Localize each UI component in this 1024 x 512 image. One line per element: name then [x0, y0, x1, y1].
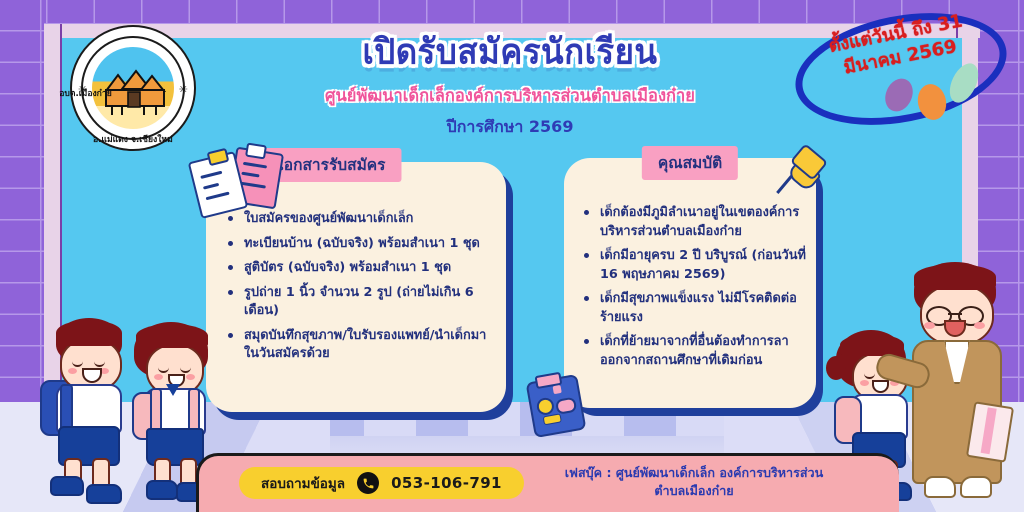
list-item: เด็กต้องมีภูมิลำเนาอยู่ในเขตองค์การบริหา… — [584, 204, 806, 241]
list-item: เด็กมีสุขภาพแข็งแรง ไม่มีโรคติดต่อร้ายแร… — [584, 290, 806, 327]
phone-number: 053-106-791 — [391, 474, 502, 492]
seal-star-left-icon: ✳ — [78, 83, 87, 96]
municipality-seal: อบต.เมืองก๋าย อ.แม่แตง จ.เชียงใหม่ ✳ ✳ — [70, 25, 196, 151]
boy-shoe-left — [50, 476, 84, 496]
list-item: รูปถ่าย 1 นิ้ว จำนวน 2 รูป (ถ่ายไม่เกิน … — [228, 284, 492, 321]
list-item: สูติบัตร (ฉบับจริง) พร้อมสำเนา 1 ชุด — [228, 259, 492, 278]
seal-star-right-icon: ✳ — [179, 83, 188, 96]
academic-year: ปีการศึกษา 2569 — [260, 115, 760, 140]
title-block: เปิดรับสมัครนักเรียน ศูนย์พัฒนาเด็กเล็กอ… — [260, 32, 760, 140]
phone-icon — [357, 472, 379, 494]
page-title: เปิดรับสมัครนักเรียน — [260, 31, 760, 73]
contact-label: สอบถามข้อมูล — [261, 472, 345, 494]
facebook-line-1: เฟสบุ๊ค : ศูนย์พัฒนาเด็กเล็ก องค์การบริห… — [529, 464, 859, 482]
pushpin-icon — [786, 146, 832, 204]
page-subtitle: ศูนย์พัฒนาเด็กเล็กองค์การบริหารส่วนตำบลเ… — [260, 83, 760, 109]
qualifications-card: คุณสมบัติ เด็กต้องมีภูมิลำเนาอยู่ในเขตอง… — [564, 158, 816, 408]
poster-root: อบต.เมืองก๋าย อ.แม่แตง จ.เชียงใหม่ ✳ ✳ เ… — [0, 0, 1024, 512]
list-item: ทะเบียนบ้าน (ฉบับจริง) พร้อมสำเนา 1 ชุด — [228, 235, 492, 254]
seal-text-ring: อบต.เมืองก๋าย อ.แม่แตง จ.เชียงใหม่ — [72, 27, 194, 149]
date-stamp-badge: ตั้งแต่วันนี้ ถึง 31 มีนาคม 2569 — [794, 8, 1004, 120]
clipboard-decoration — [188, 142, 296, 216]
backpack-icon — [526, 374, 587, 438]
list-item: สมุดบันทึกสุขภาพ/ใบรับรองแพทย์/นำเด็กมาใ… — [228, 327, 492, 364]
list-item: เด็กที่ย้ายมาจากที่อื่นต้องทำการลาออกจาก… — [584, 333, 806, 370]
facebook-line-2: ตำบลเมืองก๋าย — [529, 482, 859, 500]
teacher-books-icon — [966, 401, 1014, 463]
seal-bottom-text: อ.แม่แตง จ.เชียงใหม่ — [93, 132, 173, 146]
clipboard-clamp-pink-icon — [245, 143, 267, 160]
footer-bar: สอบถามข้อมูล 053-106-791 เฟสบุ๊ค : ศูนย์… — [196, 453, 899, 512]
character-teacher — [900, 262, 1024, 512]
qualifications-card-heading: คุณสมบัติ — [642, 146, 738, 180]
contact-phone-pill[interactable]: สอบถามข้อมูล 053-106-791 — [239, 467, 524, 499]
girl-shoe-left — [146, 480, 178, 500]
facebook-info: เฟสบุ๊ค : ศูนย์พัฒนาเด็กเล็ก องค์การบริห… — [529, 464, 859, 499]
list-item: เด็กมีอายุครบ 2 ปี บริบูรณ์ (ก่อนวันที่ … — [584, 247, 806, 284]
boy-shoe-right — [86, 484, 122, 504]
